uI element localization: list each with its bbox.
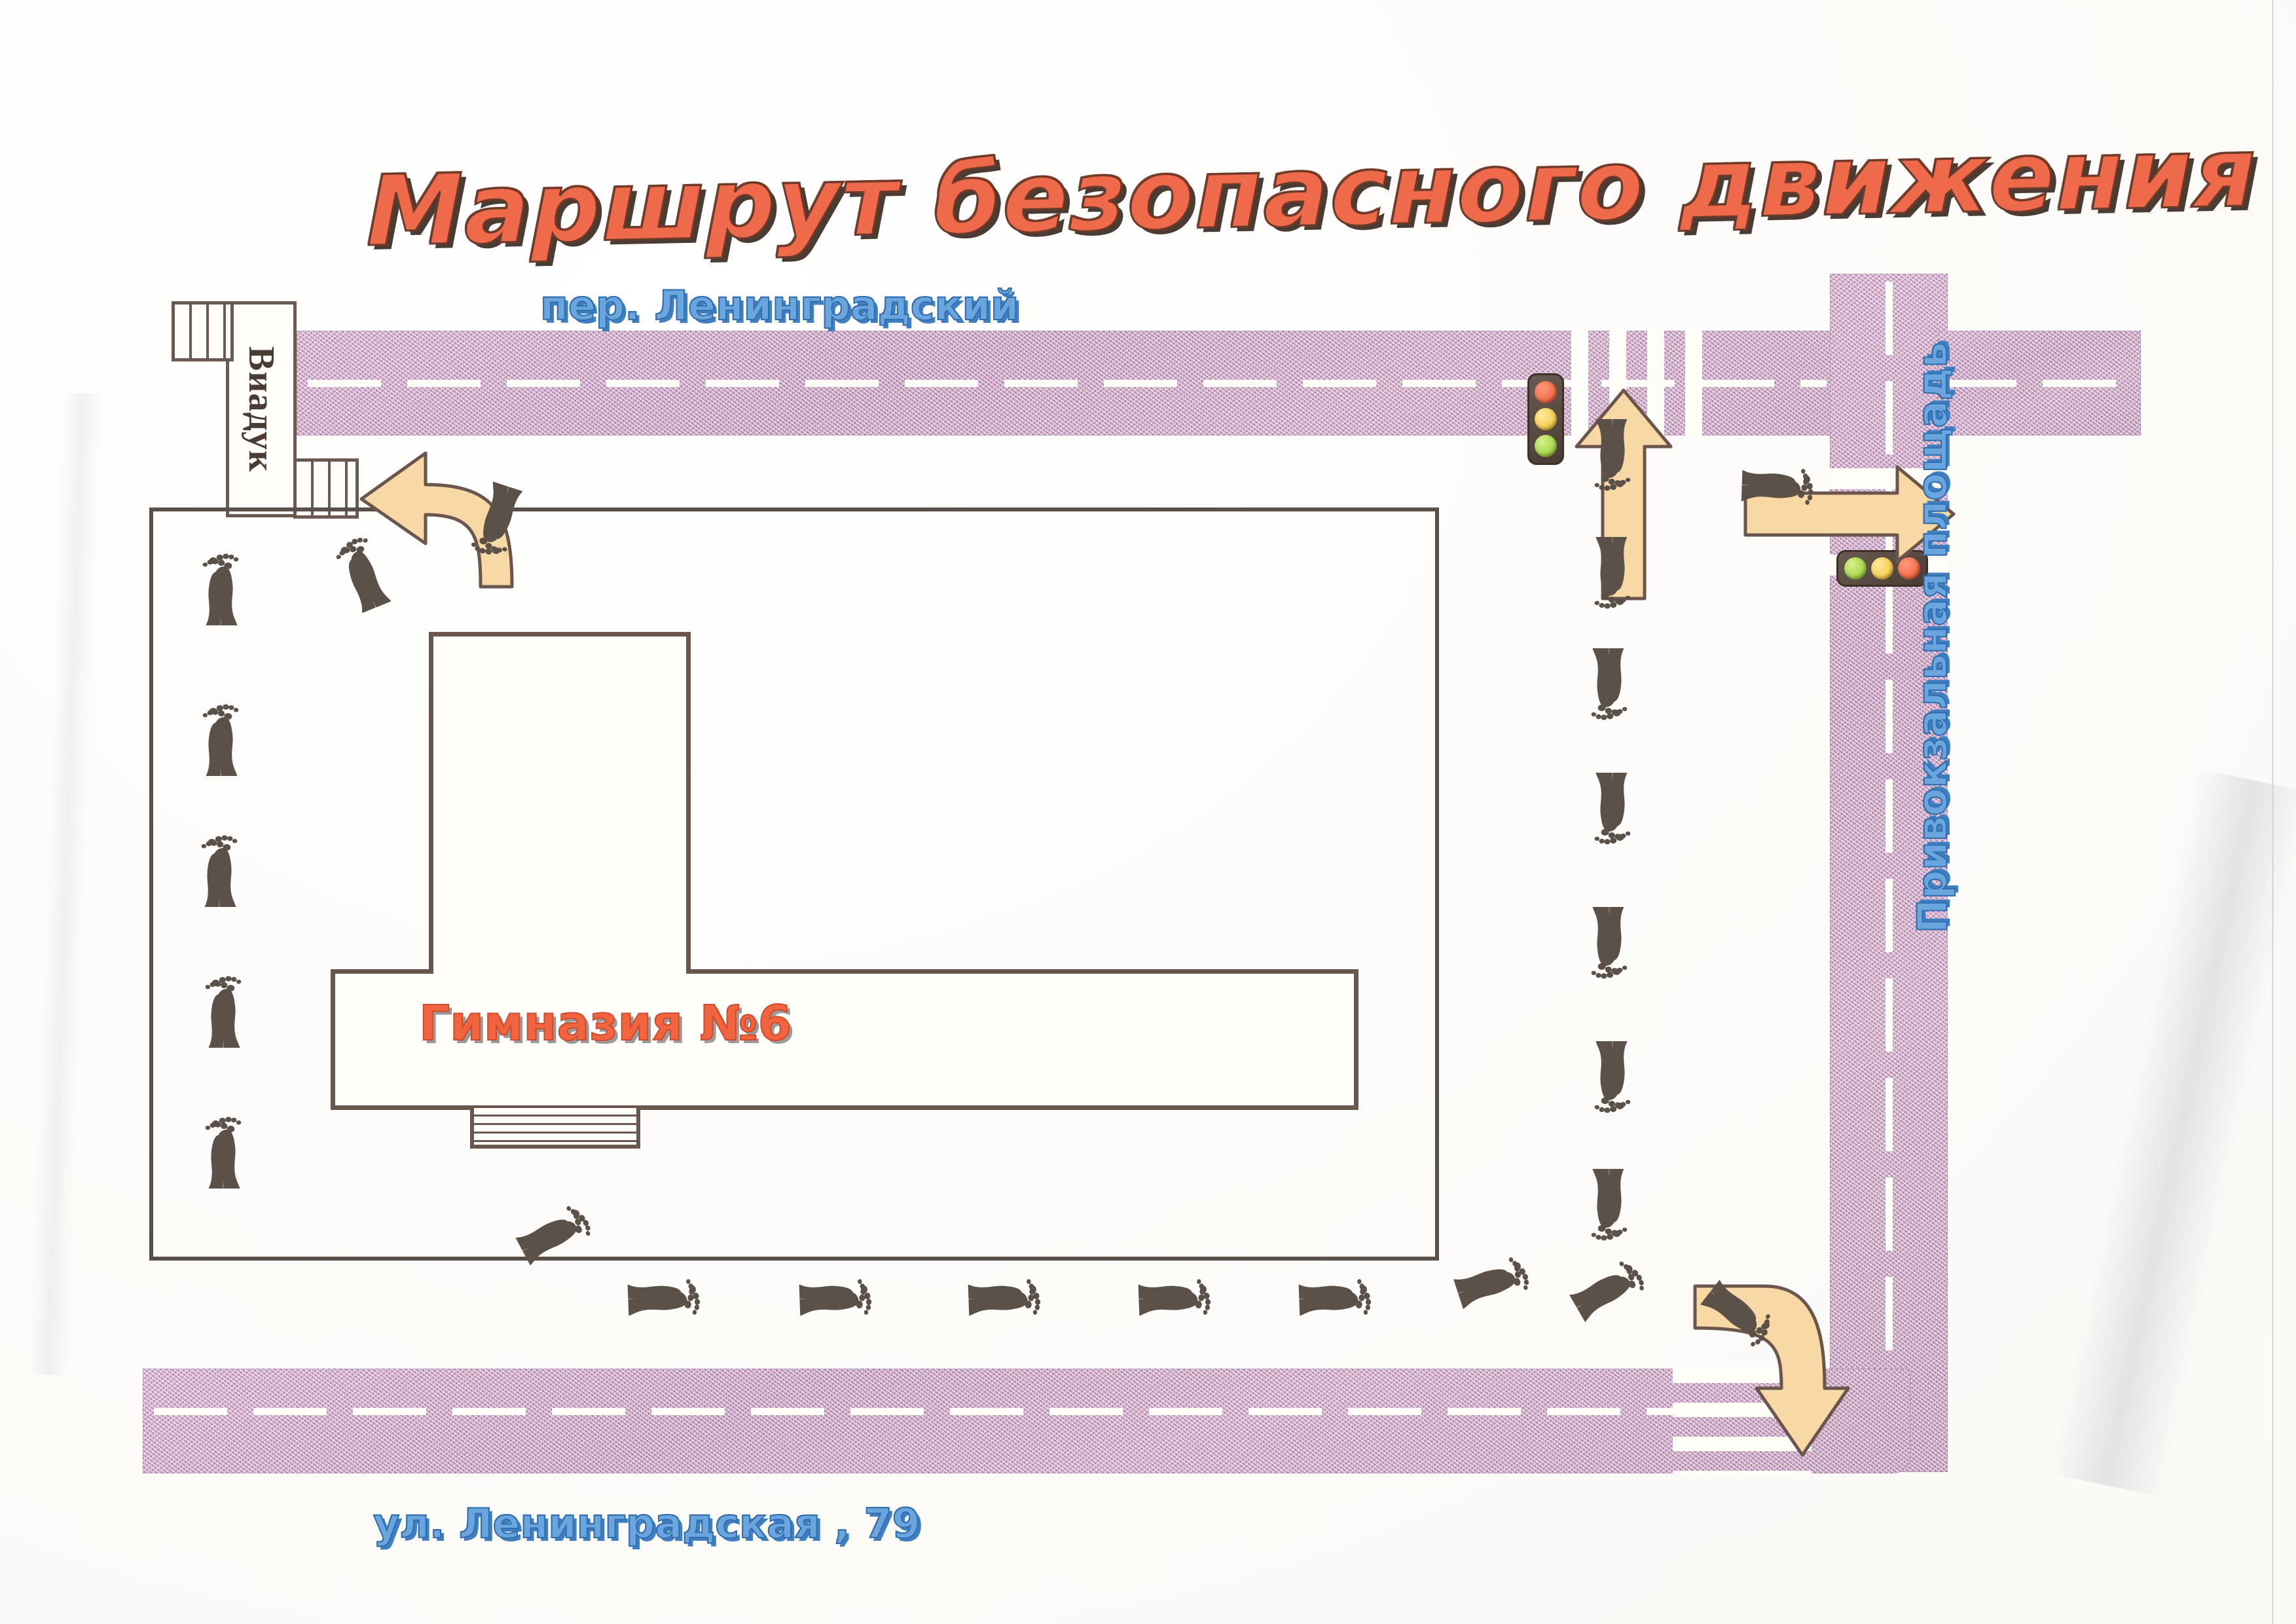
footprint-pair [1565, 773, 1637, 845]
footprint-pair [199, 1116, 271, 1189]
footprint-pair [627, 1272, 702, 1347]
footprint-pair [968, 1272, 1042, 1347]
footprint-pair [1565, 419, 1637, 491]
viaduct-stairs-top [172, 301, 234, 361]
footprint-pair [196, 553, 268, 625]
lane-dash-top-east [1943, 380, 2140, 387]
road-bottom-horizontal [143, 1369, 1910, 1473]
school-building-label: Гимназия №6 [419, 995, 1008, 1052]
traffic-light-vertical [1527, 373, 1564, 465]
footprint-pair [1565, 1041, 1637, 1113]
viaduct-label: Виадук [240, 346, 282, 472]
viaduct-box: Виадук [226, 301, 297, 517]
footprint-pair [1138, 1272, 1212, 1347]
school-building-wing [429, 632, 691, 979]
footprint-pair [1561, 648, 1633, 720]
footprint-pair [196, 704, 268, 776]
footprint-pair [1561, 907, 1633, 979]
lane-dash-bottom [154, 1408, 1751, 1415]
school-yard-boundary [149, 507, 1439, 1261]
traffic-light-yellow-bulb [1535, 408, 1557, 430]
lane-dash-right [1886, 282, 1893, 1460]
school-entrance-steps [470, 1108, 640, 1149]
traffic-light-green-bulb [1535, 435, 1557, 457]
traffic-light-red-bulb [1535, 381, 1557, 403]
footprint-pair [1565, 537, 1637, 609]
street-label-bottom: ул. Ленинградская , 79 [373, 1500, 920, 1547]
footprint-pair [1298, 1272, 1373, 1347]
street-label-right: Привокзальная площадь [1908, 344, 1956, 933]
footprint-pair [1740, 460, 1815, 535]
school-building-joint [433, 967, 686, 977]
street-label-top: пер. Ленинградский [540, 282, 1019, 329]
footprint-pair [199, 976, 271, 1048]
footprint-pair [799, 1272, 873, 1347]
footprint-pair [195, 835, 267, 907]
footprint-pair [1561, 1169, 1633, 1241]
